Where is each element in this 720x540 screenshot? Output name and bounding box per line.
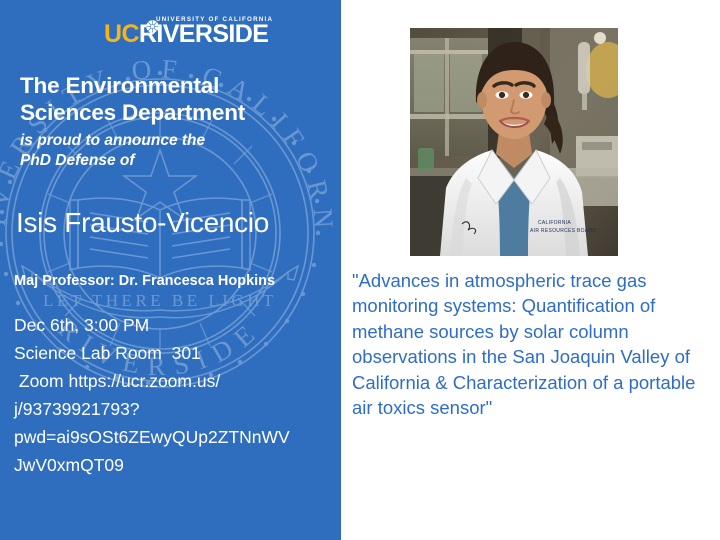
candidate-name: Isis Frausto-Vicencio [16, 207, 341, 239]
svg-text:LET THERE BE LIGHT: LET THERE BE LIGHT [43, 291, 277, 310]
candidate-photo: CALIFORNIA AIR RESOURCES BOARD [410, 28, 618, 256]
zoom-link-line-4[interactable]: JwV0xmQT09 [14, 451, 340, 479]
svg-text:CALIFORNIA: CALIFORNIA [538, 220, 571, 226]
event-details: Dec 6th, 3:00 PM Science Lab Room 301 Zo… [14, 311, 340, 479]
announcement-line-2: PhD Defense of [20, 151, 320, 171]
department-heading: The Environmental Sciences Department [20, 72, 320, 126]
announcement-line-1: is proud to announce the [20, 131, 320, 151]
thesis-title: "Advances in atmospheric trace gas monit… [352, 268, 712, 420]
uc-seal-icon [146, 20, 159, 33]
phd-defense-flyer: UNIVERSITY OF CALIFORNIA RIVERSIDE [0, 0, 720, 540]
zoom-link-line-1[interactable]: Zoom https://ucr.zoom.us/ [14, 367, 340, 395]
department-line-1: The Environmental [20, 72, 320, 99]
logo-uc-text: UC [104, 20, 139, 48]
major-professor: Maj Professor: Dr. Francesca Hopkins [14, 272, 341, 290]
logo-wordmark: UCRIVERSIDE [104, 22, 268, 47]
ucr-logo: UNIVERSITY OF CALIFORNIA UCRIVERSIDE [104, 16, 260, 50]
zoom-link-line-3[interactable]: pwd=ai9sOSt6ZEwyQUp2ZTNnWV [14, 423, 340, 451]
left-blue-panel: UNIVERSITY OF CALIFORNIA RIVERSIDE [0, 0, 341, 540]
event-location: Science Lab Room 301 [14, 339, 340, 367]
svg-text:AIR RESOURCES BOARD: AIR RESOURCES BOARD [530, 228, 596, 234]
zoom-link-line-2[interactable]: j/93739921793? [14, 395, 340, 423]
department-line-2: Sciences Department [20, 99, 320, 126]
announcement-subheading: is proud to announce the PhD Defense of [20, 131, 320, 171]
event-datetime: Dec 6th, 3:00 PM [14, 311, 340, 339]
